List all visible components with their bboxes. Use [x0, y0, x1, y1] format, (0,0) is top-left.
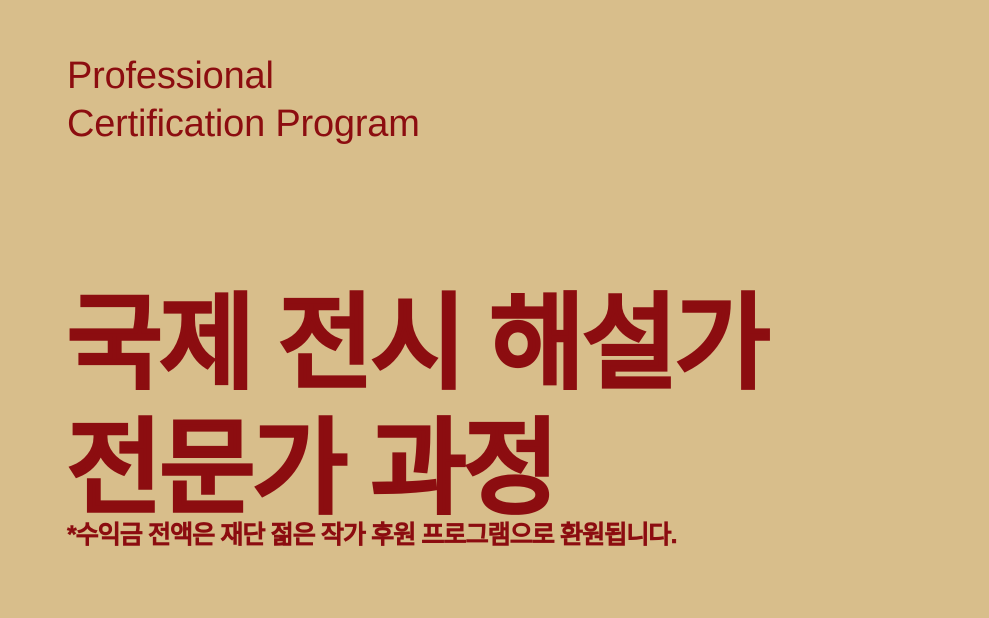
promotional-banner: Professional Certification Program 국제 전시…	[0, 0, 989, 618]
eyebrow-line-1: Professional	[67, 52, 420, 100]
banner-content: Professional Certification Program 국제 전시…	[67, 0, 989, 618]
headline-line-2: 전문가 과정	[67, 407, 768, 532]
headline-line-1: 국제 전시 해설가	[67, 282, 768, 407]
program-eyebrow: Professional Certification Program	[67, 52, 420, 148]
page-title: 국제 전시 해설가 전문가 과정	[67, 282, 768, 532]
eyebrow-line-2: Certification Program	[67, 100, 420, 148]
proceeds-footnote: *수익금 전액은 재단 젊은 작가 후원 프로그램으로 환원됩니다.	[67, 518, 677, 552]
